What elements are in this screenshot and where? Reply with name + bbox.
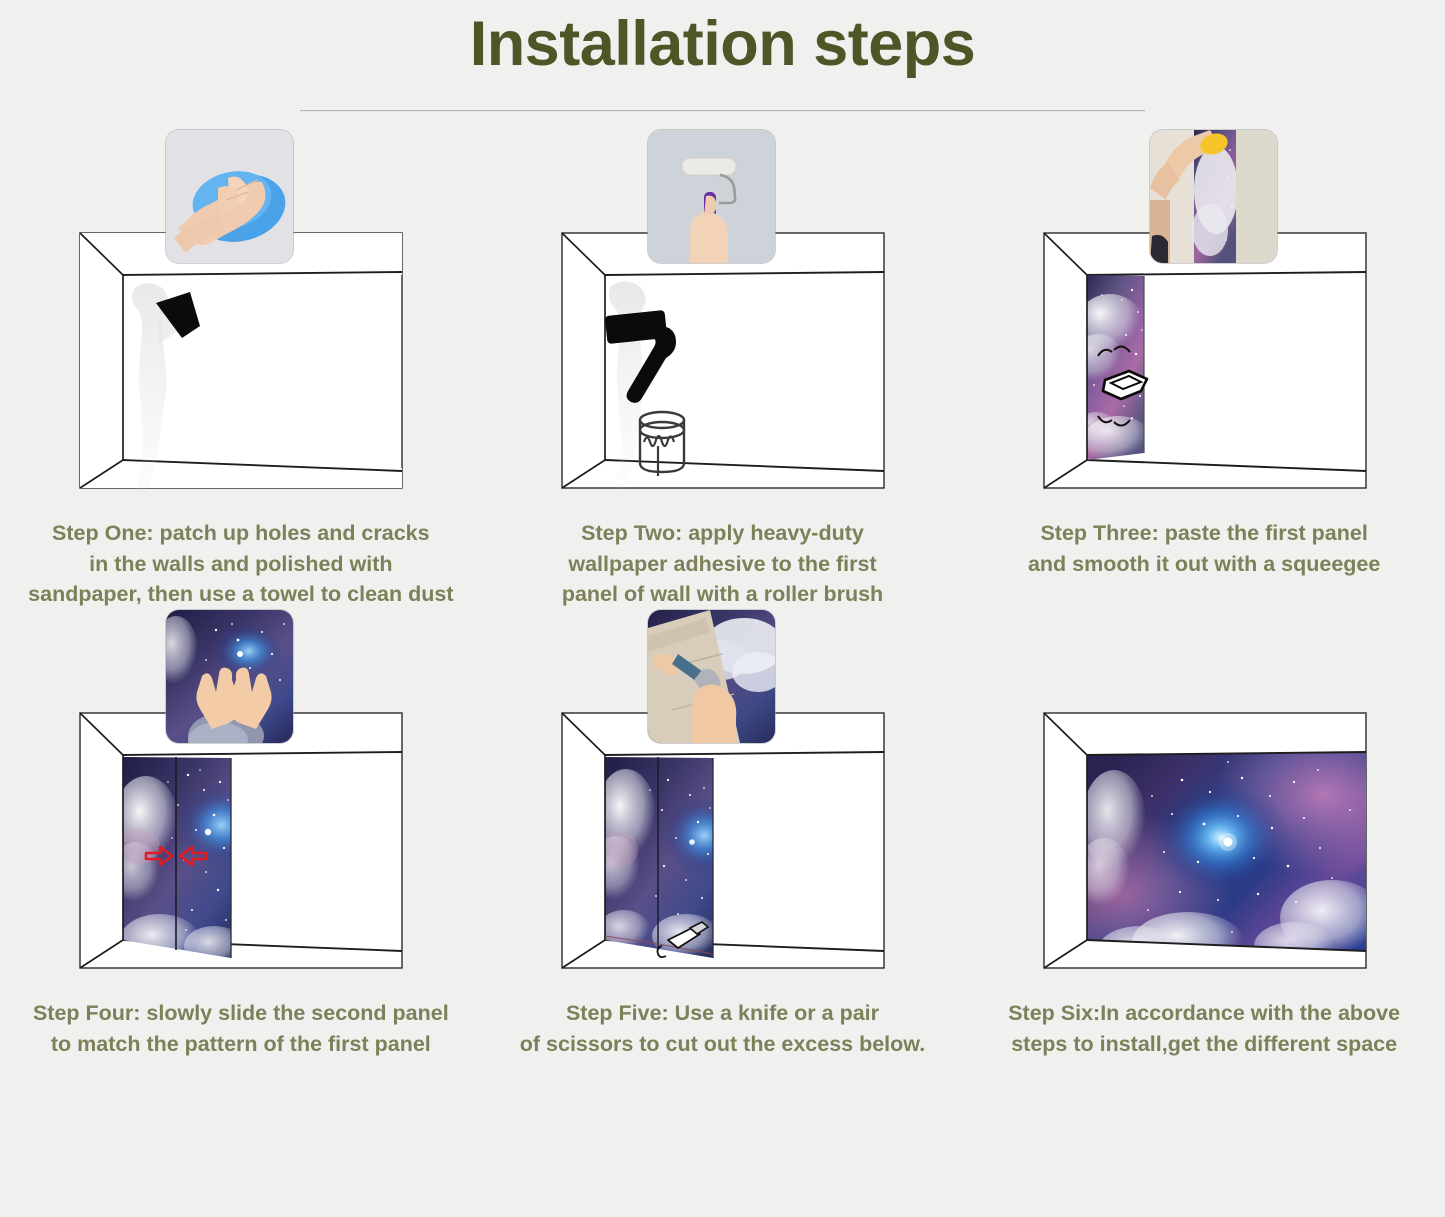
caption-line: Step Five: Use a knife or a pair bbox=[488, 998, 958, 1029]
caption-line: Step Three: paste the first panel bbox=[969, 518, 1439, 549]
caption-line: Step One: patch up holes and cracks bbox=[6, 518, 476, 549]
inset-photo-cutting-wallpaper-with-knife bbox=[648, 610, 775, 743]
caption-line: steps to install,get the different space bbox=[969, 1029, 1439, 1060]
step-six-caption: Step Six:In accordance with the above st… bbox=[963, 998, 1445, 1059]
step-card-two: Step Two: apply heavy-duty wallpaper adh… bbox=[482, 130, 964, 610]
steps-grid: Step One: patch up holes and cracks in t… bbox=[0, 130, 1445, 1059]
title-divider-container bbox=[0, 110, 1445, 112]
caption-line: and smooth it out with a squeegee bbox=[969, 549, 1439, 580]
step-four-illustration bbox=[68, 610, 413, 982]
caption-line: Step Four: slowly slide the second panel bbox=[6, 998, 476, 1029]
wallpaper-full-wall bbox=[1078, 750, 1377, 974]
installation-steps-infographic: Installation steps bbox=[0, 0, 1445, 1217]
step-one-caption: Step One: patch up holes and cracks in t… bbox=[0, 518, 482, 610]
caption-line: of scissors to cut out the excess below. bbox=[488, 1029, 958, 1060]
page-title: Installation steps bbox=[0, 0, 1445, 80]
step-five-caption: Step Five: Use a knife or a pair of scis… bbox=[482, 998, 964, 1059]
step-card-six: Step Six:In accordance with the above st… bbox=[963, 610, 1445, 1059]
step-card-three: Step Three: paste the first panel and sm… bbox=[963, 130, 1445, 610]
caption-line: sandpaper, then use a towel to clean dus… bbox=[6, 579, 476, 610]
caption-line: wallpaper adhesive to the first bbox=[488, 549, 958, 580]
inset-photo-two-hands-on-wallpaper bbox=[166, 610, 293, 743]
step-card-five: Step Five: Use a knife or a pair of scis… bbox=[482, 610, 964, 1059]
room-diagram-six bbox=[1032, 610, 1377, 982]
title-divider bbox=[300, 110, 1145, 112]
step-two-caption: Step Two: apply heavy-duty wallpaper adh… bbox=[482, 518, 964, 610]
caption-line: to match the pattern of the first panel bbox=[6, 1029, 476, 1060]
caption-line: panel of wall with a roller brush bbox=[488, 579, 958, 610]
step-one-illustration bbox=[68, 130, 413, 502]
caption-line: in the walls and polished with bbox=[6, 549, 476, 580]
inset-photo-paint-roller bbox=[648, 130, 775, 263]
step-card-four: Step Four: slowly slide the second panel… bbox=[0, 610, 482, 1059]
caption-line: Step Six:In accordance with the above bbox=[969, 998, 1439, 1029]
step-five-illustration bbox=[550, 610, 895, 982]
caption-line: Step Two: apply heavy-duty bbox=[488, 518, 958, 549]
step-three-caption: Step Three: paste the first panel and sm… bbox=[963, 518, 1445, 579]
inset-photo-hand-wiping-cloth bbox=[166, 130, 293, 263]
step-two-illustration bbox=[550, 130, 895, 502]
step-card-one: Step One: patch up holes and cracks in t… bbox=[0, 130, 482, 610]
step-four-caption: Step Four: slowly slide the second panel… bbox=[0, 998, 482, 1059]
step-six-illustration bbox=[1032, 610, 1377, 982]
step-three-illustration bbox=[1032, 130, 1377, 502]
inset-photo-smoothing-wallpaper bbox=[1150, 130, 1277, 263]
